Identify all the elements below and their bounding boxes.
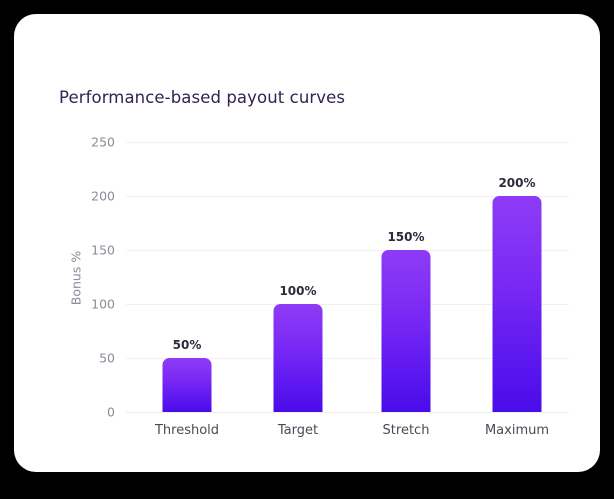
x-tick-label-target: Target <box>278 423 318 438</box>
y-tick-label-150: 150 <box>91 243 115 258</box>
bar-target[interactable] <box>274 304 323 412</box>
bar-value-maximum: 200% <box>498 176 535 190</box>
plot-area: 250 200 150 100 50 0 50% Threshold <box>126 142 569 412</box>
y-tick-label-200: 200 <box>91 189 115 204</box>
x-tick-label-stretch: Stretch <box>383 423 430 438</box>
y-tick-label-250: 250 <box>91 135 115 150</box>
y-tick-label-100: 100 <box>91 297 115 312</box>
gridline-250: 250 <box>126 142 569 143</box>
bar-stretch[interactable] <box>382 250 431 412</box>
chart-card: Performance-based payout curves Bonus % … <box>14 14 600 472</box>
chart-title: Performance-based payout curves <box>59 88 345 107</box>
bar-value-stretch: 150% <box>387 230 424 244</box>
y-tick-label-50: 50 <box>99 351 115 366</box>
bar-value-threshold: 50% <box>173 338 202 352</box>
bar-value-target: 100% <box>279 284 316 298</box>
y-tick-label-0: 0 <box>107 405 115 420</box>
bar-threshold[interactable] <box>163 358 212 412</box>
gridline-0: 0 <box>126 412 569 413</box>
chart-screenshot-root: Performance-based payout curves Bonus % … <box>0 0 614 499</box>
bar-maximum[interactable] <box>493 196 542 412</box>
y-axis-label: Bonus % <box>69 251 84 305</box>
x-tick-label-maximum: Maximum <box>485 423 549 438</box>
x-tick-label-threshold: Threshold <box>155 423 219 438</box>
